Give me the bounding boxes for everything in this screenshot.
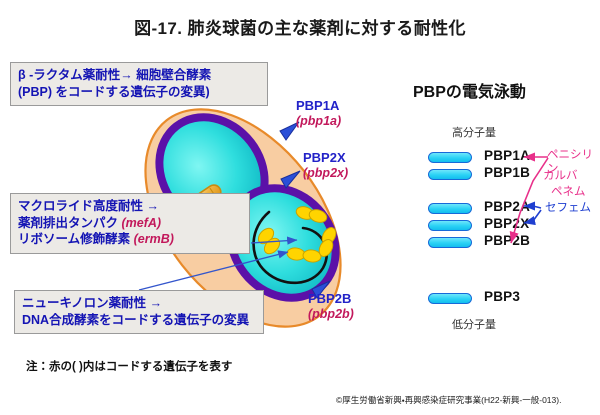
footnote: 注：赤の( )内はコードする遺伝子を表す bbox=[26, 358, 232, 374]
annotation-carbapenem-line2: ペネム bbox=[551, 186, 586, 200]
arrow-cephem-to-pbp2x bbox=[524, 210, 541, 223]
diagram-canvas: 図-17. 肺炎球菌の主な薬剤に対する耐性化 bbox=[0, 0, 600, 415]
copyright-credit: ©厚生労働省新興・再興感染症研究事業(H22-新興-一般-013). bbox=[336, 394, 561, 406]
arrow-cephem-to-pbp2a bbox=[524, 206, 541, 208]
annotation-cephem: セフェム bbox=[545, 202, 591, 216]
gel-annotation-arrows bbox=[0, 0, 600, 415]
annotation-carbapenem-line1: カルバ bbox=[543, 170, 578, 184]
